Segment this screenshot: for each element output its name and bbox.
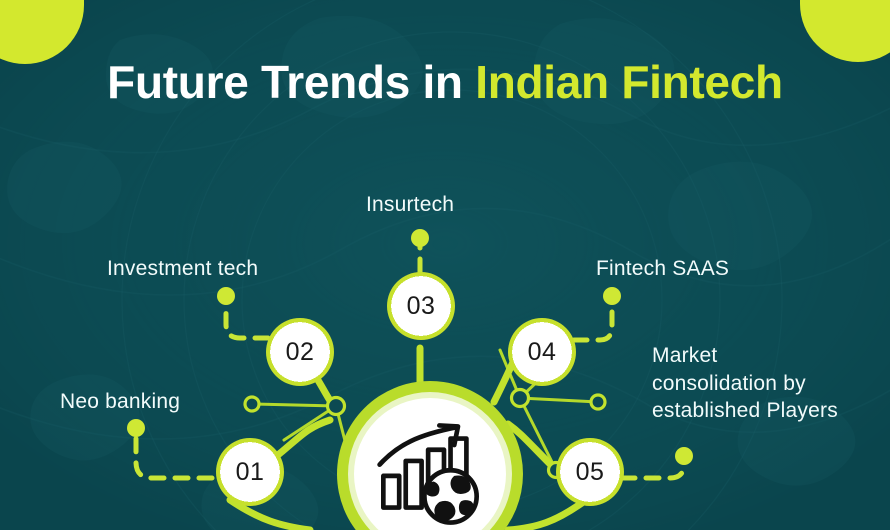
infographic-canvas: Future Trends in Indian Fintech .solidli… bbox=[0, 0, 890, 530]
node-number-02: 02 bbox=[286, 338, 315, 367]
node-circle-05[interactable]: 05 bbox=[562, 444, 618, 500]
node-circle-03[interactable]: 03 bbox=[393, 278, 449, 334]
title-container: Future Trends in Indian Fintech bbox=[0, 57, 890, 108]
leader-dot-01 bbox=[127, 419, 145, 437]
leader-dot-04 bbox=[603, 287, 621, 305]
node-circle-02[interactable]: 02 bbox=[272, 324, 328, 380]
node-circle-04[interactable]: 04 bbox=[514, 324, 570, 380]
label-investment-tech: Investment tech bbox=[107, 255, 258, 283]
title-text-accent: Indian Fintech bbox=[475, 56, 783, 108]
label-insurtech: Insurtech bbox=[366, 191, 454, 219]
growth-chart-globe-icon bbox=[374, 418, 486, 530]
node-number-04: 04 bbox=[528, 338, 557, 367]
page-title: Future Trends in Indian Fintech bbox=[0, 57, 890, 108]
leader-dot-05 bbox=[675, 447, 693, 465]
node-number-05: 05 bbox=[576, 458, 605, 487]
leader-dot-03 bbox=[411, 229, 429, 247]
label-market-consolidation: Market consolidation by established Play… bbox=[652, 342, 884, 425]
node-number-01: 01 bbox=[236, 458, 265, 487]
center-circle bbox=[354, 398, 506, 530]
label-market-line-2: consolidation by bbox=[652, 372, 806, 395]
label-fintech-saas: Fintech SAAS bbox=[596, 255, 729, 283]
title-text-primary: Future Trends in bbox=[107, 56, 475, 108]
node-circle-01[interactable]: 01 bbox=[222, 444, 278, 500]
label-market-line-3: established Players bbox=[652, 399, 838, 422]
label-market-line-1: Market bbox=[652, 344, 717, 367]
node-number-03: 03 bbox=[407, 292, 436, 321]
label-neo-banking: Neo banking bbox=[60, 388, 180, 416]
leader-dot-02 bbox=[217, 287, 235, 305]
